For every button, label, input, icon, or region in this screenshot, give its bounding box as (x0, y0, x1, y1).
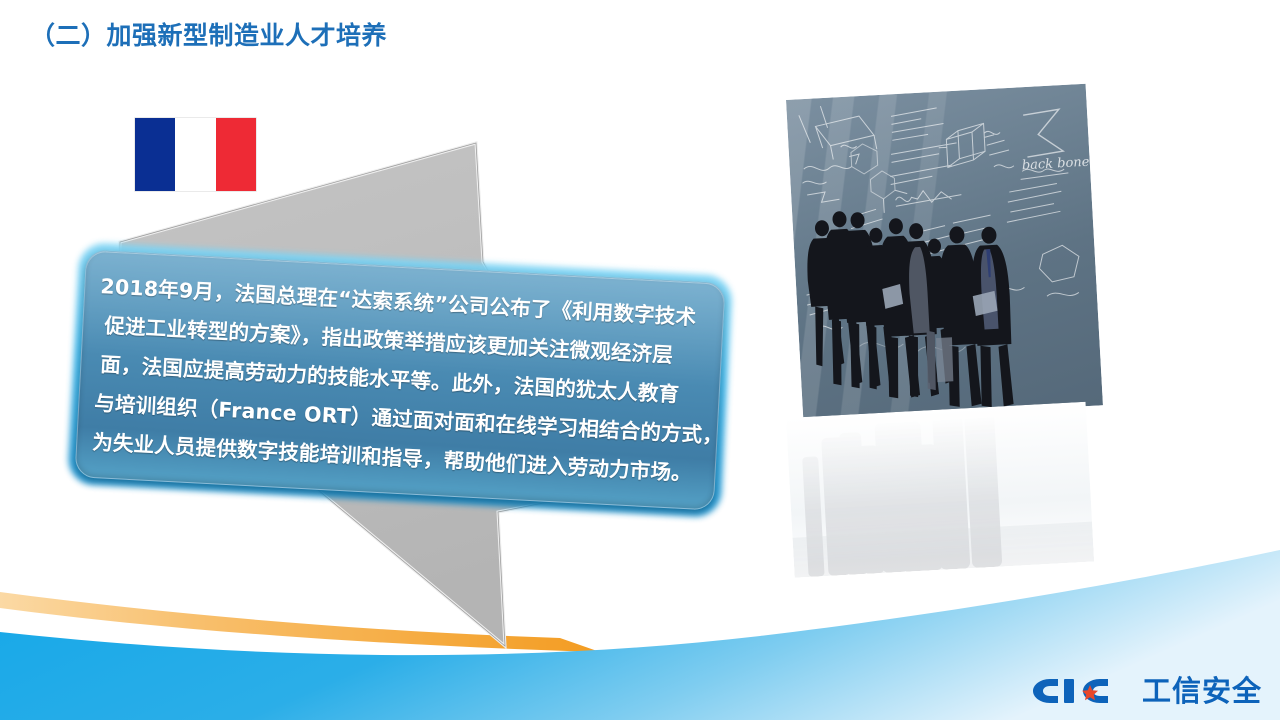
slide-canvas: （二）加强新型制造业人才培养 (0, 0, 1280, 720)
callout-text: 2018年9月，法国总理在“达索系统”公司公布了《利用数字技术 促进工业转型的方… (91, 267, 708, 494)
page-title: （二）加强新型制造业人才培养 (30, 16, 387, 52)
flag-band-blue (135, 118, 175, 191)
photo-image: back bone (786, 84, 1103, 422)
callout-body: 2018年9月，法国总理在“达索系统”公司公布了《利用数字技术 促进工业转型的方… (74, 249, 725, 510)
logo-text: 工信安全 (1142, 677, 1262, 706)
people-silhouettes (791, 174, 1103, 422)
photo-block: back bone (786, 100, 1086, 570)
flag-band-red (216, 118, 256, 191)
france-flag-icon (135, 118, 256, 191)
flag-band-white (175, 118, 215, 191)
board-text-backbone: back bone (1022, 155, 1091, 174)
cic-logo-icon (1028, 674, 1136, 708)
photo-reflection (786, 402, 1094, 578)
logo: 工信安全 (1028, 674, 1262, 708)
callout-text-box: 2018年9月，法国总理在“达索系统”公司公布了《利用数字技术 促进工业转型的方… (74, 249, 725, 510)
